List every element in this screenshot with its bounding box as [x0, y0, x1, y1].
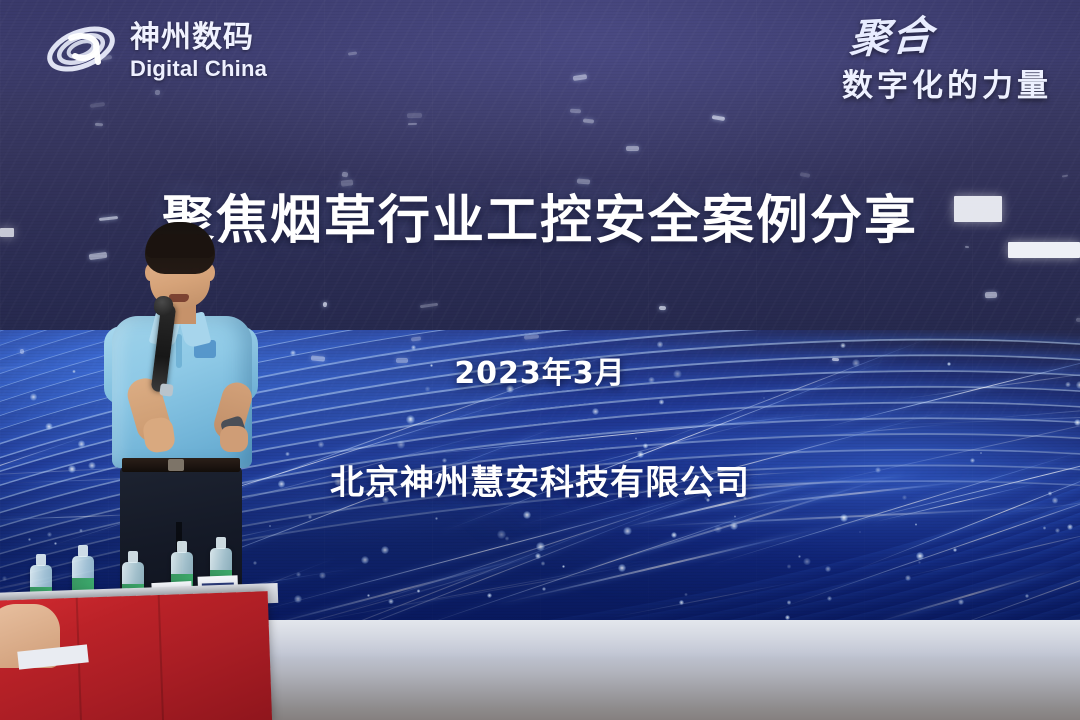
speaker-shirt-placket	[176, 334, 182, 368]
speaker-hand-right	[220, 426, 248, 452]
brand-name-cn: 神州数码	[130, 23, 267, 53]
microphone-tip	[159, 383, 173, 396]
slogan-calligraphy: 聚合	[840, 16, 935, 61]
conference-stage-photo: 神州数码 Digital China 聚合 数字化的力量 聚焦烟草行业工控安全案…	[0, 0, 1080, 720]
speaker-belt-buckle	[168, 459, 184, 471]
event-slogan: 聚合 数字化的力量	[842, 18, 1052, 105]
slogan-subtitle: 数字化的力量	[842, 60, 1052, 105]
brand-text: 神州数码 Digital China	[130, 19, 267, 80]
cloth-fold	[158, 595, 165, 720]
digital-china-swirl-logo-icon	[44, 16, 118, 82]
speaker-eye-left	[160, 268, 169, 272]
brand-name-en: Digital China	[130, 58, 267, 80]
speaker-hair-fringe	[146, 234, 214, 258]
speaker-eye-right	[191, 268, 200, 272]
speaker-hand-left	[142, 416, 176, 454]
digital-china-brand-lockup: 神州数码 Digital China	[44, 16, 267, 82]
